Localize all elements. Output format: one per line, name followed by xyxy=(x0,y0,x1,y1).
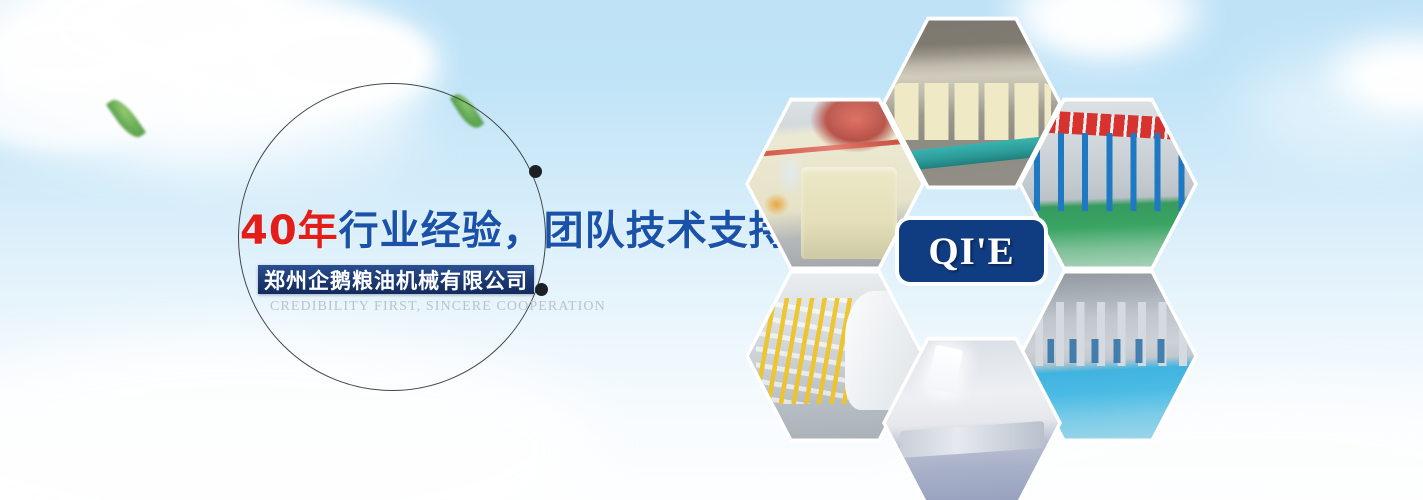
cloud-shape xyxy=(30,0,290,90)
cloud-shape xyxy=(90,0,280,70)
brand-logo[interactable]: QI'E xyxy=(899,220,1044,282)
cloud-shape xyxy=(1330,35,1423,115)
headline-highlight: 40年 xyxy=(240,208,339,254)
cloud-haze xyxy=(1240,50,1423,160)
brand-logo-text: QI'E xyxy=(928,229,1014,274)
ring-dot-top xyxy=(529,165,542,178)
company-name-text: 郑州企鹅粮油机械有限公司 xyxy=(264,265,528,295)
headline: 40年行业经验，团队技术支持 xyxy=(240,211,790,251)
cloud-shape xyxy=(0,10,140,90)
cloud-shape xyxy=(1360,55,1423,105)
tagline: CREDIBILITY FIRST, SINCERE COOPERATION xyxy=(270,299,606,315)
leaf-icon xyxy=(106,95,146,142)
headline-rest: 行业经验，团队技术支持 xyxy=(339,208,790,254)
company-name-banner: 郑州企鹅粮油机械有限公司 xyxy=(258,265,534,294)
ring-dot-bottom xyxy=(535,283,548,296)
hero-banner: 40年行业经验，团队技术支持 郑州企鹅粮油机械有限公司 CREDIBILITY … xyxy=(0,0,1423,500)
hexagon-gallery: QI'E xyxy=(736,14,1196,494)
